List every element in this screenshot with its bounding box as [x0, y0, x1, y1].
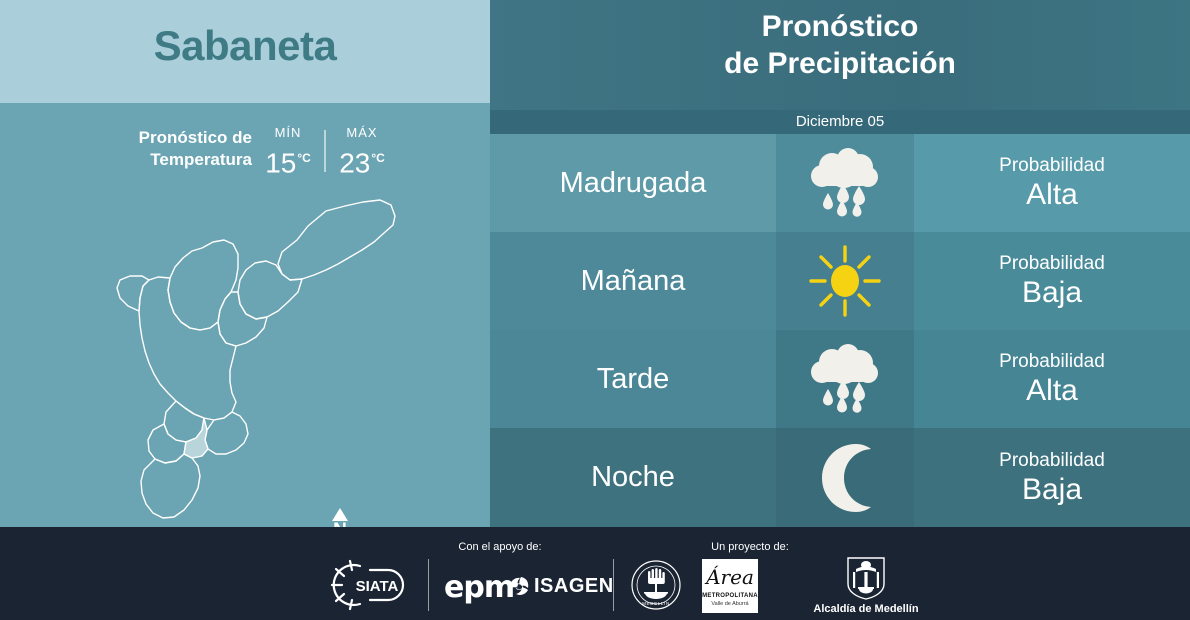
temperature-min-unit: °C: [297, 151, 310, 165]
forecast-probability-value: Baja: [1022, 473, 1082, 507]
map-municipality-caldas: [141, 454, 200, 518]
forecast-period-label: Mañana: [581, 265, 686, 298]
moon-icon: [810, 440, 880, 516]
forecast-period-label: Madrugada: [560, 167, 707, 200]
map-municipality-copacabana: [218, 292, 267, 346]
forecast-probability-value: Alta: [1026, 374, 1078, 408]
universidad-seal-text: MEDELLIN: [642, 601, 670, 606]
compass-rose: N: [323, 508, 357, 527]
forecast-row[interactable]: Mañana: [490, 232, 1190, 330]
temperature-max-value-wrap: 23°C: [326, 142, 398, 179]
city-header-band: Sabaneta: [0, 0, 490, 103]
forecast-period-cell: Tarde: [490, 330, 776, 428]
footer-divider: [428, 559, 429, 611]
forecast-title: Pronóstico de Precipitación: [490, 8, 1190, 82]
city-name: Sabaneta: [0, 22, 490, 70]
temperature-min: MÍN 15°C: [252, 124, 324, 179]
alcaldia-wordmark: Alcaldía de Medellín: [813, 603, 918, 615]
alcaldia-de-medellin-logo[interactable]: Alcaldía de Medellín: [776, 555, 956, 615]
isagen-mark-icon: [508, 575, 530, 597]
forecast-period-label: Noche: [591, 461, 675, 494]
project-caption: Un proyecto de:: [640, 541, 860, 553]
forecast-probability-cell: Probabilidad Alta: [914, 134, 1190, 232]
area-subtitle-2: Valle de Aburrá: [702, 601, 758, 607]
temperature-min-value: 15: [265, 147, 296, 178]
forecast-probability-cell: Probabilidad Baja: [914, 232, 1190, 330]
temperature-max-unit: °C: [371, 151, 384, 165]
precipitation-panel: Pronóstico de Precipitación Diciembre 05…: [490, 0, 1190, 527]
temperature-block: Pronóstico de Temperatura MÍN 15°C MÁX 2…: [84, 124, 424, 186]
forecast-header: Pronóstico de Precipitación: [490, 0, 1190, 110]
map-municipality-girardota: [238, 261, 302, 319]
forecast-probability-label: Probabilidad: [999, 449, 1105, 473]
forecast-probability-label: Probabilidad: [999, 154, 1105, 178]
universidad-de-medellin-logo[interactable]: MEDELLIN: [630, 559, 682, 611]
forecast-probability-cell: Probabilidad Alta: [914, 330, 1190, 428]
forecast-period-cell: Mañana: [490, 232, 776, 330]
sun-icon: [805, 241, 885, 321]
forecast-icon-cell: [776, 330, 914, 428]
area-subtitle-1: METROPOLITANA: [702, 593, 758, 599]
map-municipality-sabaneta-highlight: [184, 418, 208, 458]
temperature-max-value: 23: [339, 147, 370, 178]
siata-logo-icon: SIATA: [330, 559, 422, 611]
map-svg: [50, 180, 450, 520]
forecast-title-line1: Pronóstico: [490, 8, 1190, 45]
weather-forecast-card: Sabaneta Pronóstico de Temperatura MÍN 1…: [0, 0, 1190, 620]
forecast-row[interactable]: Tarde: [490, 330, 1190, 428]
siata-logo[interactable]: SIATA: [330, 559, 422, 611]
support-caption: Con el apoyo de:: [380, 541, 620, 553]
forecast-probability-cell: Probabilidad Baja: [914, 428, 1190, 527]
forecast-date: Diciembre 05: [490, 110, 1190, 134]
forecast-probability-value: Alta: [1026, 178, 1078, 212]
forecast-period-cell: Noche: [490, 428, 776, 527]
left-panel: Sabaneta Pronóstico de Temperatura MÍN 1…: [0, 0, 490, 527]
forecast-row[interactable]: Noche Probabilidad Baja: [490, 428, 1190, 527]
forecast-icon-cell: [776, 232, 914, 330]
universidad-seal-icon: MEDELLIN: [631, 560, 681, 610]
rain-cloud-icon: [802, 342, 888, 416]
area-wordmark: Área: [702, 565, 758, 589]
siata-wordmark: SIATA: [356, 578, 399, 595]
map-municipality-bello: [168, 240, 238, 330]
temperature-max: MÁX 23°C: [326, 124, 398, 179]
map-municipality-envigado: [205, 412, 248, 454]
map-municipality-medellin-west: [117, 276, 149, 311]
forecast-title-line2: de Precipitación: [490, 45, 1190, 82]
forecast-icon-cell: [776, 428, 914, 527]
aburra-valley-map: N: [50, 180, 450, 520]
temperature-min-value-wrap: 15°C: [252, 142, 324, 179]
forecast-date-band: Diciembre 05: [490, 110, 1190, 134]
forecast-rows: Madrugada: [490, 134, 1190, 527]
footer: Con el apoyo de: Un proyecto de: SIATA: [0, 527, 1190, 620]
forecast-probability-value: Baja: [1022, 276, 1082, 310]
temperature-max-label: MÁX: [326, 124, 398, 142]
temperature-title: Pronóstico de Temperatura: [84, 124, 252, 171]
forecast-row[interactable]: Madrugada: [490, 134, 1190, 232]
alcaldia-crest-icon: [845, 556, 887, 600]
isagen-logo[interactable]: ISAGEN: [508, 571, 614, 601]
forecast-icon-cell: [776, 134, 914, 232]
temperature-min-label: MÍN: [252, 124, 324, 142]
temperature-title-line2: Temperatura: [84, 149, 252, 171]
footer-divider: [613, 559, 614, 611]
area-logo-box: Área METROPOLITANA Valle de Aburrá: [702, 559, 758, 613]
rain-cloud-icon: [802, 146, 888, 220]
forecast-probability-label: Probabilidad: [999, 350, 1105, 374]
map-municipality-barbosa: [278, 200, 395, 280]
isagen-wordmark: ISAGEN: [534, 575, 614, 598]
forecast-probability-label: Probabilidad: [999, 252, 1105, 276]
epm-wordmark: epm: [444, 570, 514, 605]
forecast-period-label: Tarde: [597, 363, 670, 396]
map-municipality-medellin: [139, 277, 236, 420]
temperature-title-line1: Pronóstico de: [84, 127, 252, 149]
forecast-period-cell: Madrugada: [490, 134, 776, 232]
area-metropolitana-logo[interactable]: Área METROPOLITANA Valle de Aburrá: [702, 559, 758, 613]
